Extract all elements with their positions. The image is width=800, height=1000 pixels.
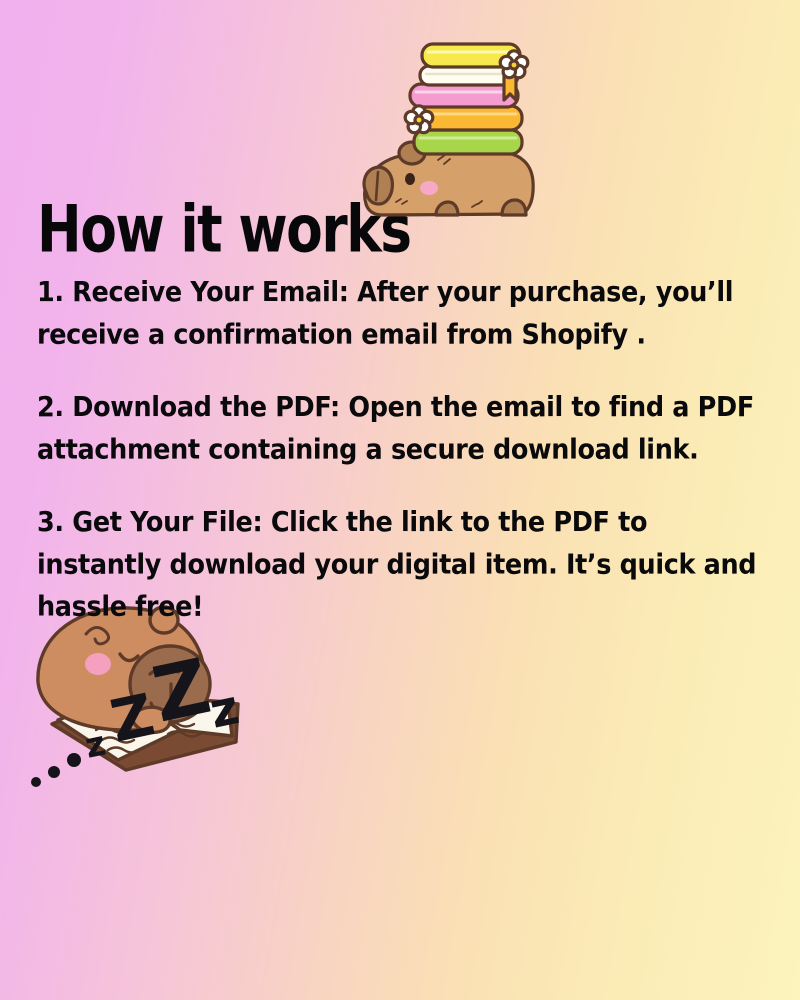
capybara-eye — [405, 173, 415, 185]
capybara-with-book-stack-illustration — [352, 52, 548, 238]
step-item-1: 1. Receive Your Email: After your purcha… — [37, 272, 762, 356]
sleeping-capybara-blush — [85, 653, 111, 675]
poster-canvas: How it works — [0, 0, 800, 1000]
step-item-2: 2. Download the PDF: Open the email to f… — [37, 387, 762, 471]
steps-list: 1. Receive Your Email: After your purcha… — [37, 272, 762, 619]
step-item-3: 3. Get Your File: Click the link to the … — [37, 502, 762, 628]
capybara-back-foot — [502, 200, 526, 215]
capybara-front-foot — [436, 202, 458, 215]
capybara-blush — [420, 181, 438, 195]
book-green — [414, 130, 522, 154]
book-pink — [410, 84, 518, 107]
